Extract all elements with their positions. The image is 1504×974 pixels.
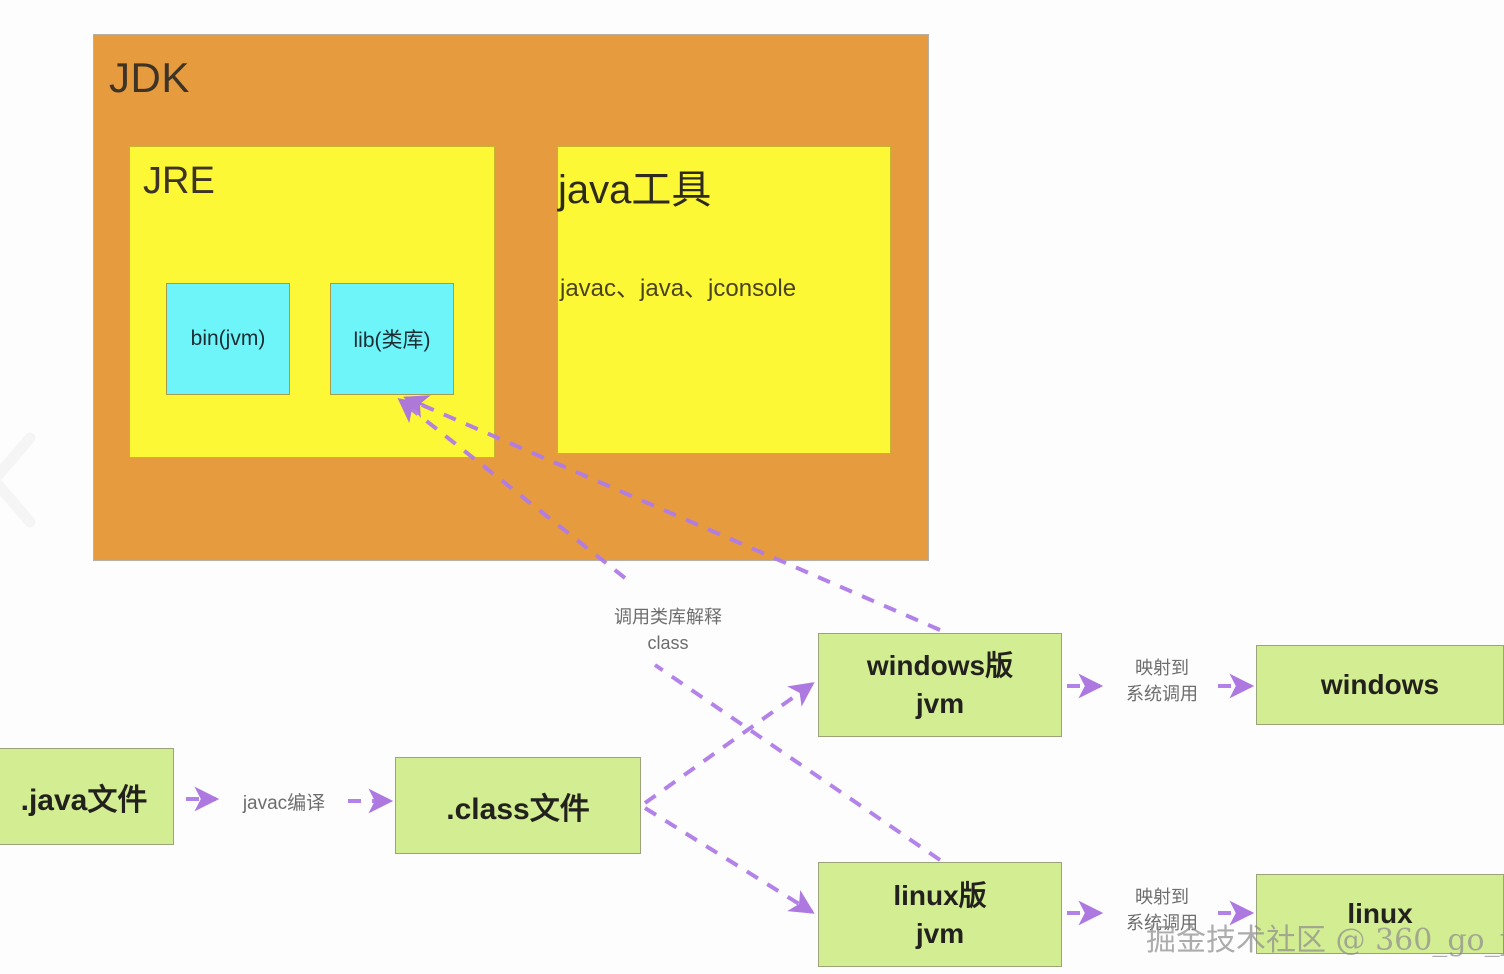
node-windows-os-label: windows [1321, 669, 1439, 701]
edge-label-map-windows: 映射到 系统调用 [1110, 655, 1214, 707]
node-class-file-label: .class文件 [446, 784, 589, 828]
chevron-left-icon [0, 432, 42, 528]
jre-label: JRE [143, 160, 215, 203]
node-linux-os: linux [1256, 874, 1504, 954]
jre-bin-label: bin(jvm) [191, 327, 266, 351]
node-java-file-label: .java文件 [21, 775, 148, 819]
node-windows-jvm-label: windows版 jvm [867, 647, 1013, 723]
arrow-class-to-winjvm [645, 684, 812, 803]
java-tools-items: javac、java、jconsole [560, 268, 796, 303]
node-class-file: .class文件 [395, 757, 641, 854]
jre-lib-box: lib(类库) [330, 283, 454, 395]
node-linux-jvm-label: linux版 jvm [893, 877, 986, 953]
diagram-canvas: JDK JRE bin(jvm) lib(类库) java工具 javac、ja… [0, 0, 1504, 974]
node-linux-os-label: linux [1347, 898, 1412, 930]
arrow-class-to-linuxjvm [645, 808, 812, 912]
node-linux-jvm: linux版 jvm [818, 862, 1062, 967]
node-windows-os: windows [1256, 645, 1504, 725]
java-tools-title: java工具 [558, 157, 711, 215]
edge-label-compile: javac编译 [228, 790, 340, 818]
node-java-file: .java文件 [0, 748, 174, 845]
jre-bin-box: bin(jvm) [166, 283, 290, 395]
jdk-label: JDK [109, 54, 190, 102]
jre-lib-label: lib(类库) [354, 324, 431, 354]
edge-label-map-linux: 映射到 系统调用 [1110, 884, 1214, 936]
edge-label-call-lib: 调用类库解释 class [588, 604, 748, 656]
node-windows-jvm: windows版 jvm [818, 633, 1062, 737]
